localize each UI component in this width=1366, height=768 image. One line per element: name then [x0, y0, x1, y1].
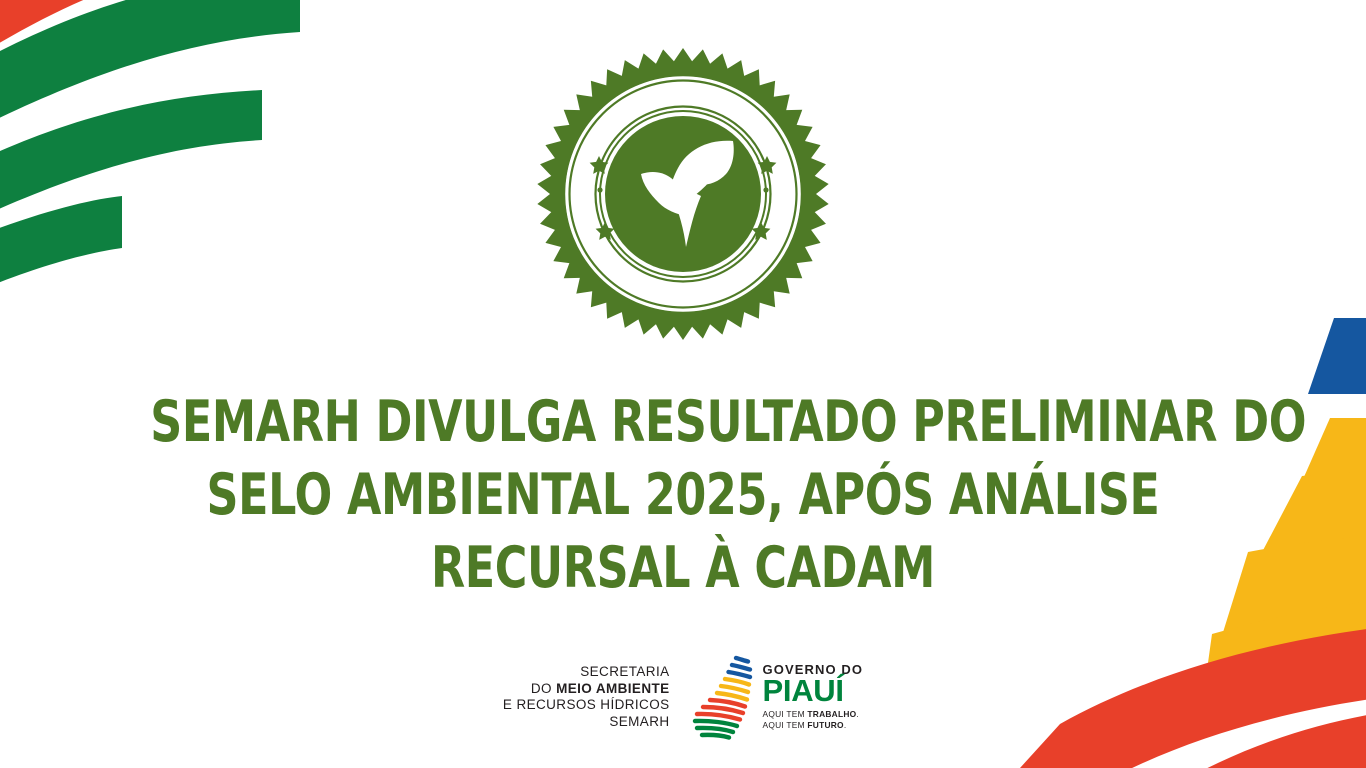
ribbon-stripe-red-tl2 [0, 0, 215, 70]
tagline-line-2: AQUI TEM FUTURO. [763, 720, 847, 730]
ribbon-stripe-yellow-br-3 [1220, 532, 1366, 642]
piaui-state-name: PIAUÍ [763, 677, 864, 706]
ribbon-stripe-green-tl-1 [0, 0, 300, 158]
ribbon-stripe-blue-br [1308, 318, 1366, 394]
semarh-logo: SECRETARIA DO MEIO AMBIENTE E RECURSOS H… [503, 664, 670, 730]
ribbon-stripe-green-tl-3 [0, 196, 122, 316]
ribbon-stripe-green-tl-2 [0, 90, 262, 246]
tagline-2-suffix: . [844, 720, 847, 730]
governo-piaui-logo: GOVERNO DO PIAUÍ AQUI TEM TRABALHO. AQUI… [688, 652, 864, 742]
tagline-line-1: AQUI TEM TRABALHO. [763, 709, 859, 719]
semarh-line-2: DO MEIO AMBIENTE [503, 681, 670, 698]
tagline-1-bold: TRABALHO [807, 709, 856, 719]
title-line-1: SEMARH DIVULGA RESULTADO PRELIMINAR DO [150, 386, 1215, 459]
piaui-text-block: GOVERNO DO PIAUÍ AQUI TEM TRABALHO. AQUI… [763, 663, 864, 731]
tagline-2-bold: FUTURO [807, 720, 843, 730]
semarh-line-2-prefix: DO [531, 681, 556, 696]
selo-ambiental-seal-icon [533, 44, 833, 344]
title-line-2: SELO AMBIENTAL 2025, APÓS ANÁLISE [150, 459, 1215, 532]
title-line-3: RECURSAL À CADAM [150, 532, 1215, 605]
page-title: SEMARH DIVULGA RESULTADO PRELIMINAR DO S… [150, 386, 1215, 605]
ribbon-stripe-yellow-br-1 [1300, 418, 1366, 486]
piaui-tagline: AQUI TEM TRABALHO. AQUI TEM FUTURO. [763, 709, 864, 731]
piaui-map-icon [688, 652, 756, 742]
seal-container [533, 44, 833, 344]
seal-dot-left [597, 187, 602, 192]
ribbon-stripe-red-tl [0, 0, 40, 60]
semarh-line-3: E RECURSOS HÍDRICOS [503, 697, 670, 714]
announcement-card: SEMARH DIVULGA RESULTADO PRELIMINAR DO S… [0, 0, 1366, 768]
semarh-line-4: SEMARH [503, 714, 670, 731]
footer-logos: SECRETARIA DO MEIO AMBIENTE E RECURSOS H… [0, 652, 1366, 742]
semarh-line-2-bold: MEIO AMBIENTE [556, 681, 669, 696]
tagline-1-suffix: . [856, 709, 859, 719]
ribbon-stripe-yellow-br-2 [1260, 470, 1366, 556]
semarh-line-1: SECRETARIA [503, 664, 670, 681]
tagline-2-prefix: AQUI TEM [763, 720, 808, 730]
tagline-1-prefix: AQUI TEM [763, 709, 808, 719]
seal-dot-right [763, 187, 768, 192]
